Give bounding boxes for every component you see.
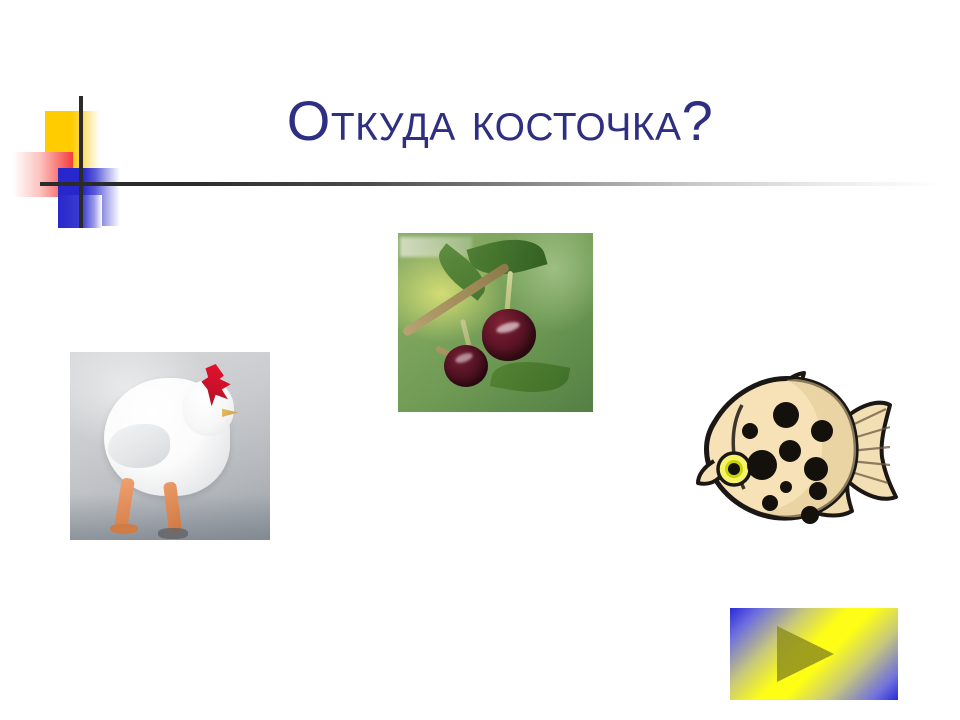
chicken-foot-right xyxy=(158,528,188,539)
play-triangle-icon xyxy=(777,626,834,682)
image-chicken xyxy=(70,352,270,540)
cherry-leaf-bottom xyxy=(490,355,570,400)
red-rectangle-decoration xyxy=(13,152,73,197)
next-slide-button[interactable] xyxy=(730,608,898,700)
chicken-foot-left xyxy=(110,524,138,534)
yellow-square-decoration xyxy=(45,111,100,171)
cherry-fruit-large xyxy=(482,309,536,361)
slide: Откуда косточка? xyxy=(0,0,960,720)
chicken-wing xyxy=(108,424,170,468)
vertical-rule-decoration xyxy=(79,96,83,228)
blue-square-lower-decoration xyxy=(58,195,102,228)
image-fish xyxy=(690,365,908,540)
image-cherries xyxy=(398,233,593,412)
slide-title: Откуда косточка? xyxy=(150,92,850,151)
blue-square-decoration xyxy=(58,168,120,226)
cherry-fruit-small xyxy=(444,345,488,387)
horizontal-rule-decoration xyxy=(40,182,940,186)
